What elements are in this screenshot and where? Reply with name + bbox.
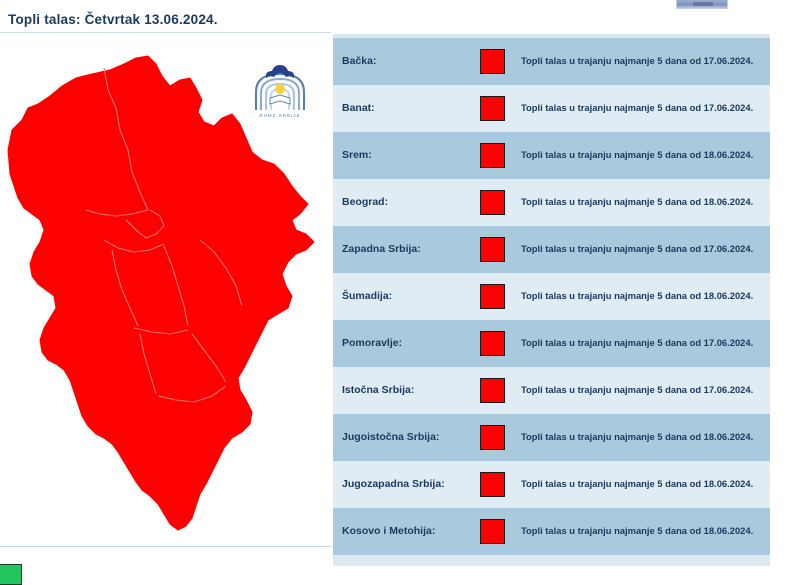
table-row[interactable]: Srem: Topli talas u trajanju najmanje 5 … <box>333 132 770 179</box>
severity-swatch-red <box>480 237 505 262</box>
region-label: Beograd: <box>333 197 480 209</box>
map-country-shape <box>8 56 314 530</box>
region-label: Zapadna Srbija: <box>333 244 480 256</box>
table-row[interactable]: Pomoravlje: Topli talas u trajanju najma… <box>333 320 770 367</box>
warning-text: Topli talas u trajanju najmanje 5 dana o… <box>513 384 770 396</box>
emblem-sun-icon <box>275 84 285 94</box>
severity-swatch-cell <box>480 143 513 168</box>
region-label: Kosovo i Metohija: <box>333 526 480 538</box>
severity-swatch-cell <box>480 49 513 74</box>
region-label: Jugozapadna Srbija: <box>333 479 480 491</box>
legend-swatch-green <box>0 564 22 585</box>
severity-swatch-red <box>480 331 505 356</box>
emblem-cloud-icon <box>266 65 294 78</box>
region-label: Srem: <box>333 150 480 162</box>
rhmz-emblem: RHMZ SRBIJE <box>252 62 308 120</box>
serbia-outline <box>8 56 314 530</box>
severity-swatch-cell <box>480 237 513 262</box>
heat-wave-warning-page: Topli talas: Četvrtak 13.06.2024. <box>0 0 790 585</box>
warning-text: Topli talas u trajanju najmanje 5 dana o… <box>513 337 770 349</box>
severity-swatch-red <box>480 378 505 403</box>
severity-swatch-red <box>480 96 505 121</box>
warning-text: Topli talas u trajanju najmanje 5 dana o… <box>513 431 770 443</box>
cut-off-toolbar-fragment <box>676 0 728 9</box>
severity-swatch-red <box>480 284 505 309</box>
severity-swatch-cell <box>480 331 513 356</box>
table-row[interactable]: Kosovo i Metohija: Topli talas u trajanj… <box>333 508 770 555</box>
severity-swatch-cell <box>480 378 513 403</box>
severity-swatch-cell <box>480 190 513 215</box>
table-row[interactable]: Jugozapadna Srbija: Topli talas u trajan… <box>333 461 770 508</box>
region-label: Pomoravlje: <box>333 338 480 350</box>
emblem-book-icon <box>270 95 290 104</box>
svg-text:RHMZ SRBIJE: RHMZ SRBIJE <box>259 113 300 118</box>
severity-swatch-cell <box>480 425 513 450</box>
warning-text: Topli talas u trajanju najmanje 5 dana o… <box>513 525 770 537</box>
warning-text: Topli talas u trajanju najmanje 5 dana o… <box>513 55 770 67</box>
table-row[interactable]: Zapadna Srbija: Topli talas u trajanju n… <box>333 226 770 273</box>
warning-text: Topli talas u trajanju najmanje 5 dana o… <box>513 196 770 208</box>
region-label: Šumadija: <box>333 291 480 303</box>
warning-text: Topli talas u trajanju najmanje 5 dana o… <box>513 478 770 490</box>
table-row[interactable]: Banat: Topli talas u trajanju najmanje 5… <box>333 85 770 132</box>
severity-swatch-cell <box>480 96 513 121</box>
warning-table: Bačka: Topli talas u trajanju najmanje 5… <box>333 34 770 566</box>
table-row[interactable]: Šumadija: Topli talas u trajanju najmanj… <box>333 273 770 320</box>
severity-swatch-red <box>480 190 505 215</box>
severity-swatch-red <box>480 143 505 168</box>
warning-text: Topli talas u trajanju najmanje 5 dana o… <box>513 290 770 302</box>
severity-swatch-cell <box>480 519 513 544</box>
severity-swatch-red <box>480 472 505 497</box>
map-bottom-divider <box>0 546 331 547</box>
severity-swatch-red <box>480 519 505 544</box>
rhmz-emblem-svg: RHMZ SRBIJE <box>252 62 308 120</box>
severity-swatch-cell <box>480 472 513 497</box>
severity-swatch-red <box>480 49 505 74</box>
warning-text: Topli talas u trajanju najmanje 5 dana o… <box>513 149 770 161</box>
warning-text: Topli talas u trajanju najmanje 5 dana o… <box>513 243 770 255</box>
severity-swatch-red <box>480 425 505 450</box>
severity-swatch-cell <box>480 284 513 309</box>
emblem-caption-text: RHMZ SRBIJE <box>259 113 300 118</box>
region-label: Istočna Srbija: <box>333 385 480 397</box>
title-divider <box>0 32 331 33</box>
table-row[interactable]: Beograd: Topli talas u trajanju najmanje… <box>333 179 770 226</box>
table-row[interactable]: Istočna Srbija: Topli talas u trajanju n… <box>333 367 770 414</box>
page-title: Topli talas: Četvrtak 13.06.2024. <box>8 12 218 27</box>
table-row[interactable]: Jugoistočna Srbija: Topli talas u trajan… <box>333 414 770 461</box>
table-row[interactable]: Bačka: Topli talas u trajanju najmanje 5… <box>333 38 770 85</box>
warning-text: Topli talas u trajanju najmanje 5 dana o… <box>513 102 770 114</box>
region-label: Bačka: <box>333 56 480 68</box>
region-label: Banat: <box>333 103 480 115</box>
region-label: Jugoistočna Srbija: <box>333 432 480 444</box>
